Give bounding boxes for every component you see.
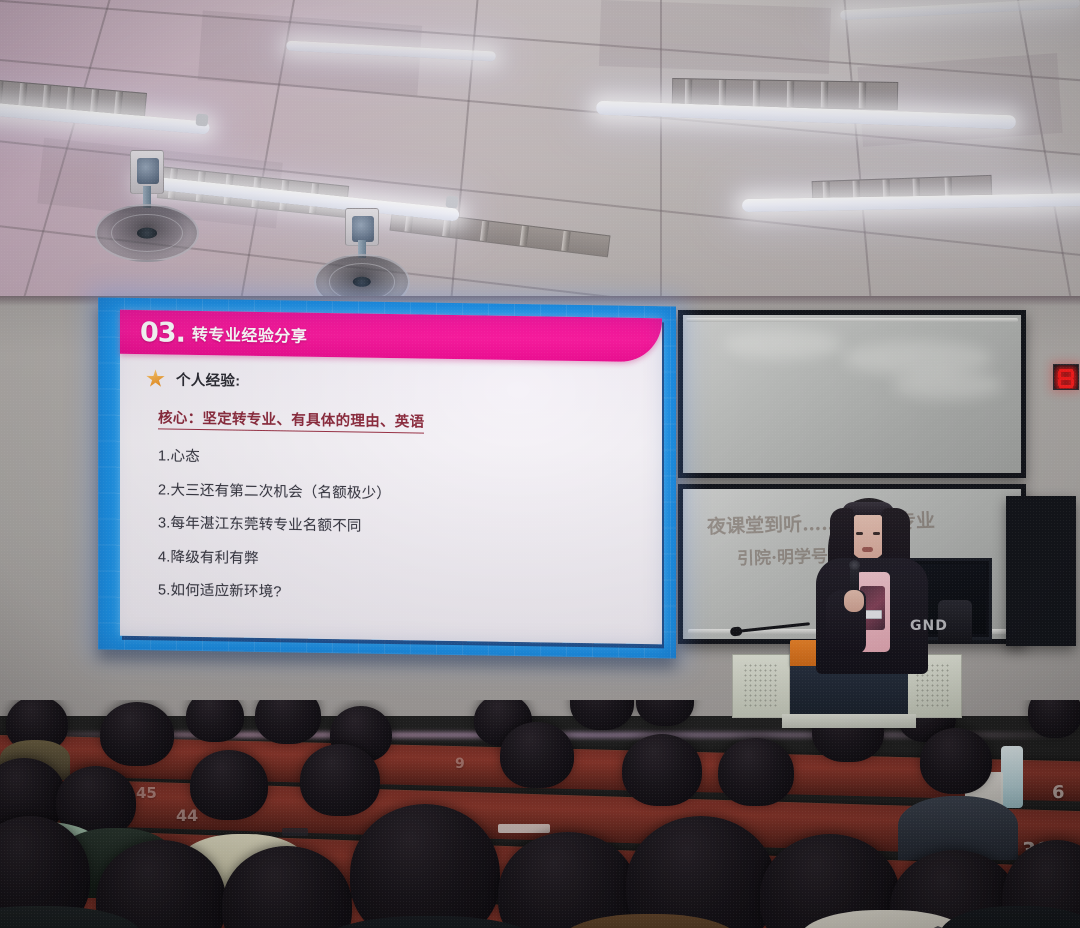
seat-number: 9 xyxy=(455,756,465,772)
slide-bullet-item: 2.大三还有第二次机会（名额极少） xyxy=(158,478,662,507)
slide-bullet-item: 3.每年湛江东莞转专业名额不同 xyxy=(158,511,662,540)
audience-head xyxy=(622,734,702,806)
ceiling-fan xyxy=(312,208,412,302)
ceiling-light xyxy=(840,0,1080,20)
seat-number: 45 xyxy=(136,784,157,802)
slide-body: 个人经验: 核心：坚定转专业、有具体的理由、英语 1.心态 2.大三还有第二次机… xyxy=(120,354,662,645)
audience-head xyxy=(1028,700,1080,738)
audience-head xyxy=(636,700,694,726)
audience-head xyxy=(500,722,574,788)
presenter-hand xyxy=(844,590,864,612)
audience-head xyxy=(186,700,244,742)
audience-head xyxy=(570,700,634,730)
audience-head xyxy=(255,700,321,744)
led-clock xyxy=(1053,364,1079,390)
lecture-hall-photo: 夜课堂到听…………时专业 引院·明学号 03. 转专业经验分享 个人经验: 核心… xyxy=(0,0,1080,928)
whiteboard-upper xyxy=(678,310,1026,478)
slide-card: 03. 转专业经验分享 个人经验: 核心：坚定转专业、有具体的理由、英语 1.心… xyxy=(120,310,662,645)
slide-section-title: 转专业经验分享 xyxy=(192,321,308,347)
slide-bullet-item: 1.心态 xyxy=(158,444,662,473)
slide-core-statement: 核心：坚定转专业、有具体的理由、英语 xyxy=(158,406,424,433)
podium-base xyxy=(782,714,916,728)
monitor-brand-label: GND xyxy=(910,618,948,634)
slide-bullet-item: 4.降级有利有弊 xyxy=(158,545,662,574)
ceiling-fan xyxy=(92,150,202,270)
seat-number: 44 xyxy=(176,806,198,825)
audience-head xyxy=(718,738,794,806)
notebook xyxy=(498,824,550,833)
side-display-panel xyxy=(1006,496,1076,646)
led-presentation-screen[interactable]: 03. 转专业经验分享 个人经验: 核心：坚定转专业、有具体的理由、英语 1.心… xyxy=(98,297,676,658)
presenter xyxy=(812,494,932,674)
slide-subheading-label: 个人经验: xyxy=(176,369,240,391)
presenter-mouth xyxy=(862,547,873,552)
seat-number: 6 xyxy=(1052,782,1065,803)
slide-section-number: 03. xyxy=(140,317,185,349)
star-icon xyxy=(146,369,165,388)
speaker-panel-left xyxy=(732,654,790,718)
phone xyxy=(282,828,308,836)
ceiling xyxy=(0,0,1080,302)
slide-subheading: 个人经验: xyxy=(146,368,662,397)
audience-head xyxy=(300,744,380,816)
water-bottle xyxy=(1001,746,1023,808)
slide-bullet-item: 5.如何适应新环境? xyxy=(158,578,662,607)
audience-head xyxy=(190,750,268,820)
audience-head xyxy=(100,702,174,766)
slide-bullet-list: 1.心态 2.大三还有第二次机会（名额极少） 3.每年湛江东莞转专业名额不同 4… xyxy=(158,444,662,607)
ceiling-light xyxy=(742,193,1080,212)
